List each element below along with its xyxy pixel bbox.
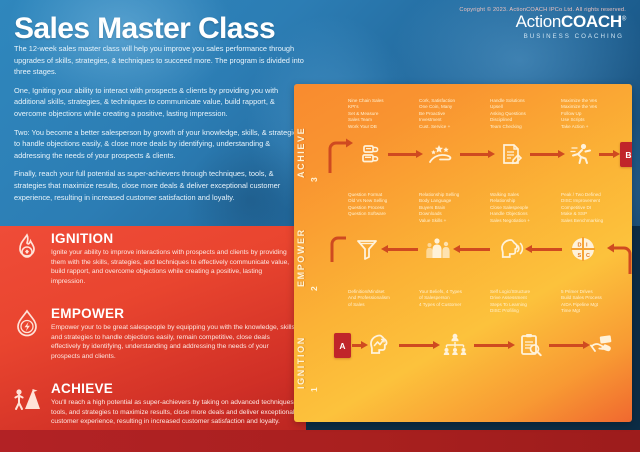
achieve-step-text-1: Nine Chain SalesKPI'sSet & MeasureSales … (348, 98, 419, 130)
stage-achieve: ACHIEVE You'll reach a high potential as… (12, 381, 298, 427)
achieve-text-columns: Nine Chain SalesKPI'sSet & MeasureSales … (348, 98, 632, 130)
ignition-step-text-4: 5 Primer DrivesBuild Sales ProcessAIDA P… (561, 289, 632, 315)
svg-text:C: C (586, 253, 590, 259)
coffee-cups-icon (356, 141, 382, 167)
achieve-step-text-2: Cork, SatisfactionOne Coin, ManyBe Proac… (419, 98, 490, 130)
stage-body: Ignite your ability to improve interacti… (51, 248, 298, 286)
ignition-step-text-2: Your Beliefs, 4 Typesof Salesperson4 Typ… (419, 289, 490, 315)
lane-number-achieve: 3 (309, 177, 319, 182)
stage-empower: EMPOWER Empower your to be great salespe… (12, 306, 298, 361)
brand-logo: ActionCOACH® BUSINESS COACHING (516, 12, 626, 40)
page-title: Sales Master Class (14, 12, 275, 46)
lightning-drop-icon (12, 306, 42, 340)
journey-diagram: ACHIEVE 3 EMPOWER 2 IGNITION 1 Nine Chai… (294, 84, 632, 422)
intro-paragraph-2: One, Igniting your ability to interact w… (14, 85, 306, 120)
svg-text:D: D (578, 243, 582, 249)
achieve-step-text-4: Maximize the VesMaximize the VesFollow U… (561, 98, 632, 130)
intro-paragraph-3: Two: You become a better salesperson by … (14, 127, 306, 162)
lane-label-achieve: ACHIEVE (296, 127, 306, 178)
connector-empower-exit (328, 232, 354, 266)
mindset-head-icon (367, 332, 393, 358)
relationship-icon (426, 236, 452, 262)
ignition-step-text-1: Definition/MindsetAnd Professionalismof … (348, 289, 419, 315)
intro-paragraph-4: Finally, reach your full potential as su… (14, 168, 306, 203)
achieve-icon-row: B (348, 141, 632, 175)
ignition-text-columns: Definition/MindsetAnd Professionalismof … (348, 289, 632, 315)
connector-empower-to-achieve (326, 135, 354, 175)
summit-climber-icon (12, 381, 42, 415)
start-marker-a: A (334, 333, 351, 358)
arrow-achieve-4 (599, 153, 615, 156)
achieve-step-text-3: Handle SolutionsUpsellAsking QuestionsDi… (490, 98, 561, 130)
stage-body: You'll reach a high potential as super-a… (51, 398, 298, 427)
arrow-empower-2 (458, 248, 490, 251)
lane-label-empower: EMPOWER (296, 228, 306, 287)
stage-title: IGNITION (51, 231, 298, 246)
arrow-ignition-2 (474, 344, 510, 347)
logo-tagline: BUSINESS COACHING (516, 33, 624, 40)
infographic-poster: Sales Master Class ActionCOACH® BUSINESS… (0, 0, 640, 452)
empower-step-text-2: Walking SalesRelationshipClose Salespeop… (490, 192, 561, 224)
logo-trademark: ® (622, 16, 626, 22)
empower-step-text-4: Question FormatOld Vs New SellingQuestio… (348, 192, 419, 224)
stage-body: Empower your to be great salespeople by … (51, 323, 298, 361)
footer-bar (0, 430, 640, 452)
speaking-head-icon (498, 236, 524, 262)
org-chart-icon (442, 332, 468, 358)
intro-paragraph-1: The 12-week sales master class will help… (14, 43, 306, 78)
stage-title: EMPOWER (51, 306, 298, 321)
intro-copy: The 12-week sales master class will help… (14, 43, 306, 210)
stage-title: ACHIEVE (51, 381, 298, 396)
stage-ignition: IGNITION Ignite your ability to improve … (12, 231, 298, 286)
hand-stars-icon (427, 141, 453, 167)
arrow-ignition-0 (352, 344, 363, 347)
handshake-cards-icon (590, 332, 616, 358)
arrow-empower-1 (386, 248, 418, 251)
lane-number-empower: 2 (309, 286, 319, 291)
lane-number-ignition: 1 (309, 387, 319, 392)
ignition-icon-row: A (334, 332, 618, 366)
ignition-step-text-3: Self Logic/StructureDrive AssessmentStep… (490, 289, 561, 315)
running-person-icon (568, 141, 594, 167)
empower-step-text-3: Relationship SellingBody LanguageBuyers … (419, 192, 490, 224)
end-marker-b: B (620, 142, 632, 167)
flame-icon (12, 231, 42, 265)
arrow-achieve-2 (460, 153, 490, 156)
svg-text:S: S (578, 253, 582, 259)
logo-coach-text: COACH (561, 12, 622, 31)
arrow-ignition-3 (549, 344, 585, 347)
arrow-ignition-1 (399, 344, 435, 347)
disc-wheel-icon: D I S C (570, 236, 596, 262)
arrow-achieve-1 (388, 153, 418, 156)
connector-ignition-to-empower (600, 234, 632, 276)
signed-doc-icon (498, 141, 524, 167)
lane-label-ignition: IGNITION (296, 336, 306, 389)
arrow-achieve-3 (530, 153, 560, 156)
empower-icon-row: D I S C (348, 236, 632, 270)
logo-wordmark: ActionCOACH® (516, 12, 626, 32)
funnel-icon (354, 236, 380, 262)
empower-step-text-1: Peak / Two DefinedDISC ImprovementCompet… (561, 192, 632, 224)
empower-text-columns: Question FormatOld Vs New SellingQuestio… (348, 192, 632, 224)
clipboard-search-icon (517, 332, 543, 358)
arrow-empower-3 (530, 248, 562, 251)
logo-action-text: Action (516, 12, 561, 31)
